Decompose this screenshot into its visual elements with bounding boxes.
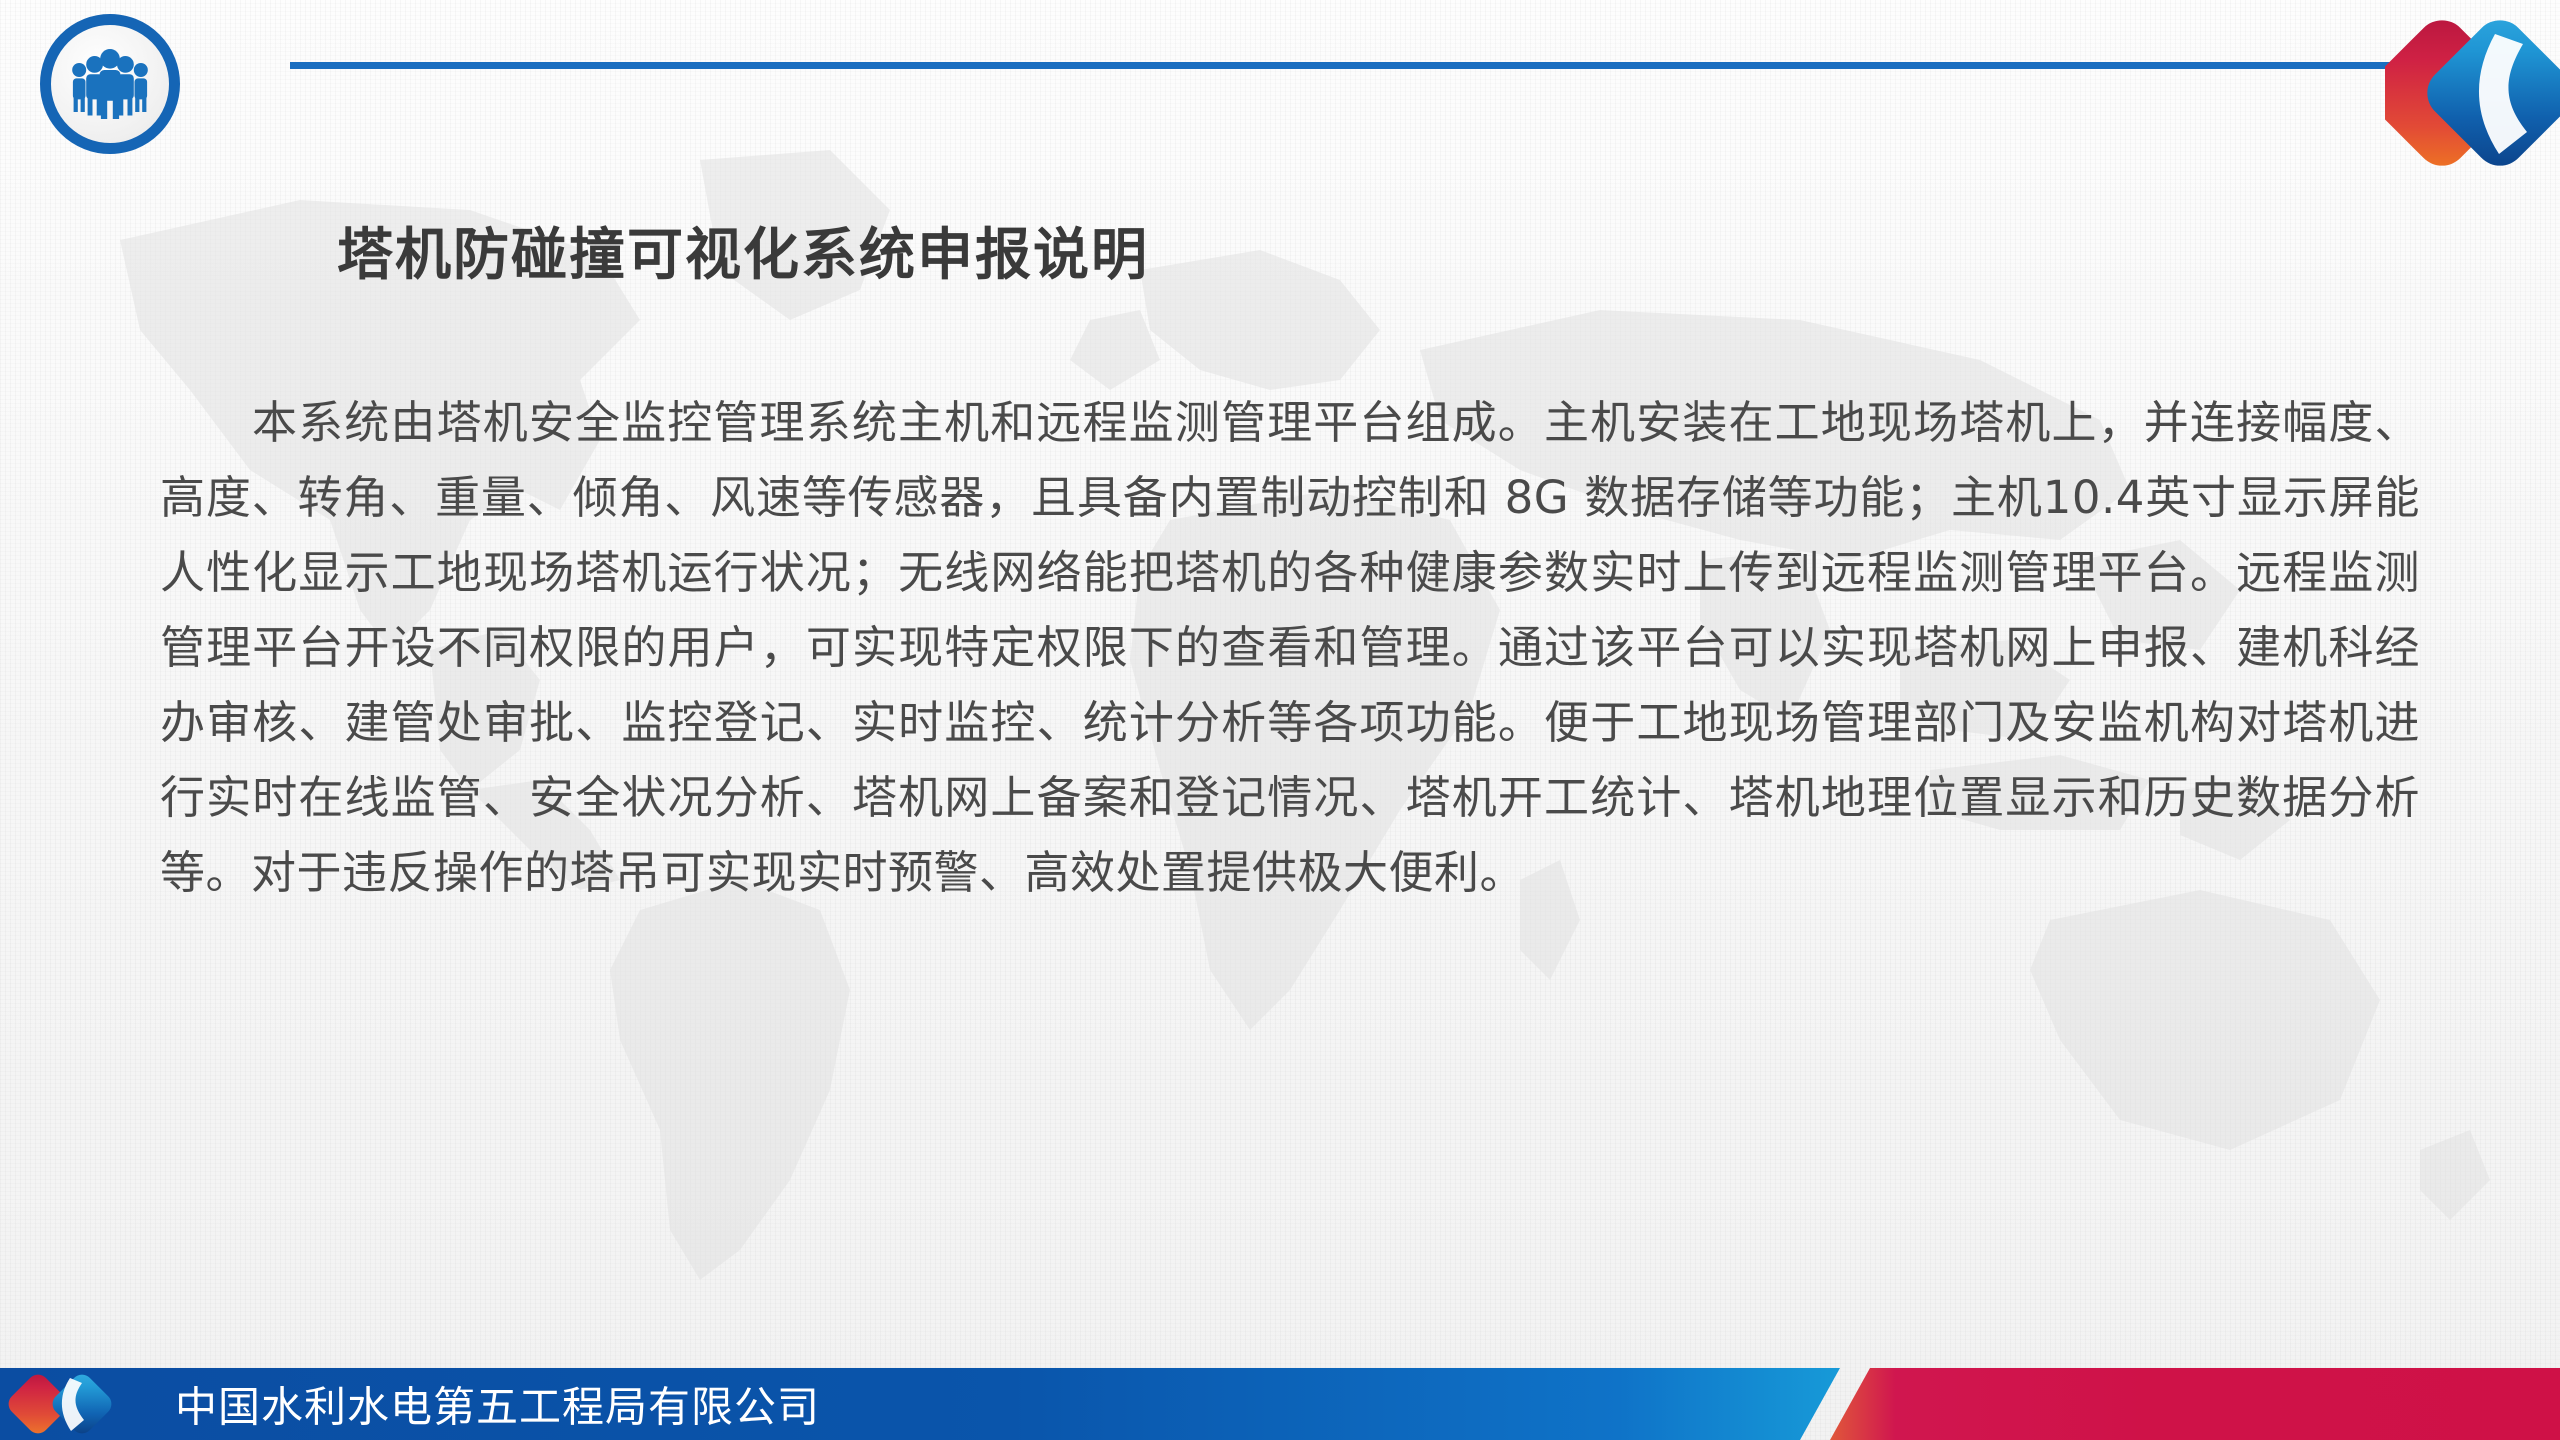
- company-diamond-logo-icon: [8, 1366, 136, 1440]
- body-paragraph: 本系统由塔机安全监控管理系统主机和远程监测管理平台组成。主机安装在工地现场塔机上…: [160, 385, 2420, 910]
- slide-footer: 中国水利水电第五工程局有限公司: [0, 1368, 2560, 1440]
- header-divider-rule: [290, 62, 2420, 69]
- people-group-badge: [40, 14, 180, 154]
- slide-canvas: 塔机防碰撞可视化系统申报说明: [0, 0, 2560, 1440]
- people-group-icon: [68, 49, 152, 119]
- company-diamond-logo-icon: [2385, 0, 2560, 200]
- footer-red-band: [1830, 1368, 2560, 1440]
- page-title: 塔机防碰撞可视化系统申报说明: [337, 210, 1149, 291]
- footer-organization-name: 中国水利水电第五工程局有限公司: [175, 1374, 820, 1435]
